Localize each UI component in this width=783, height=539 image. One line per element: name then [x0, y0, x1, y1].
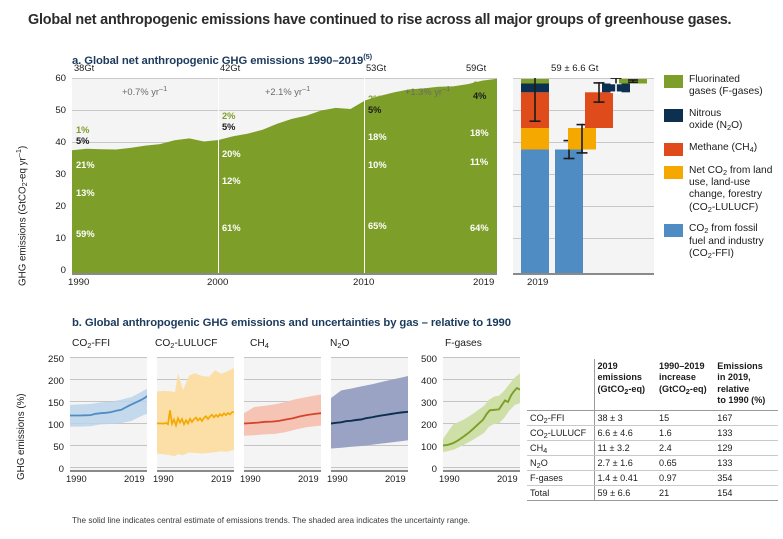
panel-a-share-2000-fgases: 2% [222, 111, 235, 121]
table-cell-relative: 129 [714, 441, 778, 456]
panel-a-xtick-2010: 2010 [353, 277, 374, 288]
panel-a-rate-2000-2010: +2.1% yr–1 [265, 84, 310, 97]
table-cell-increase: 21 [656, 486, 714, 501]
legend-swatch-co2-lulucf-icon [664, 166, 683, 179]
panel-b-title: b. Global anthropogenic GHG emissions an… [72, 317, 511, 329]
table-header-2019-emissions: 2019 emissions (GtCO2-eq) [594, 359, 656, 411]
panel-b-ch4-xtick-2019: 2019 [298, 474, 319, 484]
panel-a-ytick-40: 40 [42, 137, 66, 148]
panel-a-xtick-2000: 2000 [207, 277, 228, 288]
table-header-relative-l3: relative [717, 384, 749, 394]
panel-b-ytick-150: 150 [40, 398, 64, 409]
panel-a-share-1990-ch4: 21% [76, 160, 95, 170]
panel-b-n2o-xtick-1990: 1990 [327, 474, 348, 484]
panel-a-share-1990-fgases: 1% [76, 125, 89, 135]
legend-label-n2o: Nitrous oxide (N2O) [689, 108, 742, 133]
panel-a-share-1990-lulucf: 13% [76, 188, 95, 198]
panel-a-share-2010-lulucf: 10% [368, 160, 387, 170]
legend-item-n2o[interactable]: Nitrous oxide (N2O) [664, 108, 783, 133]
legend-item-co2-ffi[interactable]: CO2 from fossilfuel and industry(CO2-FFI… [664, 223, 783, 260]
table-row: F-gases 1.4 ± 0.41 0.97 354 [527, 471, 778, 486]
panel-a-share-2000-co2ffi: 61% [222, 223, 241, 233]
panel-b-ch4-chart [244, 357, 321, 470]
panel-b-n2o-chart [331, 357, 408, 470]
table-cell-relative: 154 [714, 486, 778, 501]
panel-b-co2-lulucf-xtick-1990: 1990 [153, 474, 174, 484]
table-header-relative-l1: Emissions [717, 361, 763, 371]
panel-b-mini-title-f-gases: F-gases [445, 338, 482, 349]
panel-a-side-xtick-2019: 2019 [527, 277, 548, 288]
table-cell-2019: 1.4 ± 0.41 [594, 471, 656, 486]
bar-total-co2ffi [521, 150, 549, 274]
panel-a-share-2010-co2ffi: 65% [368, 221, 387, 231]
panel-b-ytick-50: 50 [40, 442, 64, 453]
panel-b-n2o-x-axis [331, 470, 408, 472]
table-cell-relative: 133 [714, 456, 778, 471]
table-cell-2019: 59 ± 6.6 [594, 486, 656, 501]
table-cell-relative: 133 [714, 426, 778, 441]
area-f-gases [72, 79, 497, 273]
panel-b-fgas-ytick-300: 300 [413, 398, 437, 409]
legend-item-ch4[interactable]: Methane (CH4) [664, 142, 783, 156]
panel-a-ytick-10: 10 [42, 233, 66, 244]
panel-b-fgas-ytick-400: 400 [413, 376, 437, 387]
legend-label-f-gases: Fluorinated gases (F-gases) [689, 74, 763, 99]
panel-b-ytick-0: 0 [40, 464, 64, 475]
panel-a-share-2019-co2ffi: 64% [470, 223, 489, 233]
legend-label-ch4: Methane (CH4) [689, 142, 757, 156]
panel-a-ytick-20: 20 [42, 201, 66, 212]
legend-label-n2o-line1: Nitrous [689, 108, 721, 119]
panel-a-ytick-0: 0 [42, 265, 66, 276]
table-header-relative-l2: in 2019, [717, 372, 750, 382]
table-cell-increase: 0.97 [656, 471, 714, 486]
panel-a-rate-1990-2000: +0.7% yr–1 [122, 84, 167, 97]
bar-total-lulucf [521, 128, 549, 150]
panel-b-mini-title-co2-lulucf: CO2-LULUCF [155, 338, 217, 349]
panel-b-mini-title-co2-ffi: CO2-FFI [72, 338, 110, 349]
panel-b-ch4-x-axis [244, 470, 321, 472]
panel-b-footnote: The solid line indicates central estimat… [72, 516, 470, 525]
table-row: CO2-LULUCF 6.6 ± 4.6 1.6 133 [527, 426, 778, 441]
panel-a-xtick-2019: 2019 [473, 277, 494, 288]
legend-label-co2-ffi: CO2 from fossilfuel and industry(CO2-FFI… [689, 223, 764, 260]
panel-a-share-2010-ch4: 18% [368, 132, 387, 142]
panel-b-fgas-ytick-500: 500 [413, 354, 437, 365]
panel-b-f-gases-xtick-2019: 2019 [497, 474, 518, 484]
panel-b-mini-title-ch4: CH4 [250, 338, 269, 349]
panel-b-fgas-ytick-0: 0 [413, 464, 437, 475]
panel-a-share-2010-n2o: 5% [368, 105, 381, 115]
table-cell-increase: 15 [656, 411, 714, 426]
panel-b-co2-ffi-chart [70, 357, 147, 470]
panel-a-gt-1990: 38Gt [74, 63, 94, 73]
panel-b-f-gases-chart [443, 357, 520, 470]
table-row: Total 59 ± 6.6 21 154 [527, 486, 778, 501]
table-cell-gas: F-gases [527, 471, 594, 486]
legend-swatch-f-gases-icon [664, 75, 683, 88]
table-cell-2019: 2.7 ± 1.6 [594, 456, 656, 471]
panel-a-share-1990-co2ffi: 59% [76, 229, 95, 239]
table-cell-increase: 0.65 [656, 456, 714, 471]
band-co2-ffi [70, 389, 147, 427]
panel-a-share-2019-lulucf: 11% [470, 157, 488, 167]
panel-a-gt-2010: 53Gt [366, 63, 386, 73]
table-cell-gas: CH4 [527, 441, 594, 456]
band-co2-lulucf [157, 368, 234, 456]
panel-b-ytick-200: 200 [40, 376, 64, 387]
panel-b-co2-lulucf-chart [157, 357, 234, 470]
table-header-relative-l4: to 1990 (%) [717, 395, 765, 405]
table-cell-increase: 1.6 [656, 426, 714, 441]
panel-b-fgas-ytick-200: 200 [413, 420, 437, 431]
legend-swatch-n2o-icon [664, 109, 683, 122]
panel-a-x-axis [72, 273, 497, 275]
band-f-gases [443, 373, 520, 452]
table-cell-relative: 167 [714, 411, 778, 426]
legend-label-co2-lulucf: Net CO2 from landuse, land-usechange, fo… [689, 165, 772, 215]
panel-b-fgas-ytick-100: 100 [413, 442, 437, 453]
table-cell-2019: 11 ± 3.2 [594, 441, 656, 456]
panel-a-gt-2000: 42Gt [220, 63, 240, 73]
panel-a-rate-2010-2019: +1.3% yr–1 [405, 84, 450, 97]
panel-a-separator-2010 [364, 78, 365, 273]
panel-b-co2-lulucf-x-axis [157, 470, 234, 472]
legend-swatch-co2-ffi-icon [664, 224, 683, 237]
panel-a-ytick-60: 60 [42, 73, 66, 84]
table-cell-relative: 354 [714, 471, 778, 486]
table-header-relative: Emissions in 2019, relative to 1990 (%) [714, 359, 778, 411]
table-cell-gas: CO2-LULUCF [527, 426, 594, 441]
legend: Fluorinated gases (F-gases) Nitrous oxid… [664, 74, 783, 269]
table-header-increase-l2: increase [659, 372, 696, 382]
panel-a-waterfall-svg [513, 78, 654, 273]
legend-item-co2-lulucf[interactable]: Net CO2 from landuse, land-usechange, fo… [664, 165, 783, 215]
panel-a-share-2000-lulucf: 12% [222, 176, 241, 186]
panel-b-ytick-100: 100 [40, 420, 64, 431]
table-header-increase: 1990–2019 increase (GtCO2-eq) [656, 359, 714, 411]
table-cell-gas: CO2-FFI [527, 411, 594, 426]
panel-a-side-total-label: 59 ± 6.6 Gt [551, 63, 598, 74]
bar-co2ffi [555, 150, 583, 274]
panel-b-y-axis-label: GHG emissions (%) [16, 393, 27, 480]
table-cell-gas: Total [527, 486, 594, 501]
panel-a-gt-2019: 59Gt [466, 63, 486, 73]
panel-a-title-footnote-marker: (5) [363, 52, 372, 61]
panel-a-share-1990-n2o: 5% [76, 136, 89, 146]
legend-label-f-gases-line2: gases (F-gases) [689, 86, 763, 97]
legend-swatch-ch4-icon [664, 143, 683, 156]
table-header-row: 2019 emissions (GtCO2-eq) 1990–2019 incr… [527, 359, 778, 411]
panel-b-co2-ffi-x-axis [70, 470, 147, 472]
table-row: CH4 11 ± 3.2 2.4 129 [527, 441, 778, 456]
page-title: Global net anthropogenic emissions have … [28, 12, 768, 28]
panel-a-ytick-50: 50 [42, 105, 66, 116]
panel-a-share-2019-n2o: 4% [473, 91, 486, 101]
panel-b-f-gases-x-axis [443, 470, 520, 472]
panel-b-ch4-xtick-1990: 1990 [240, 474, 261, 484]
panel-b-co2-ffi-xtick-2019: 2019 [124, 474, 145, 484]
panel-b-co2-lulucf-xtick-2019: 2019 [211, 474, 232, 484]
summary-table: 2019 emissions (GtCO2-eq) 1990–2019 incr… [527, 359, 778, 501]
table-header-2019-emissions-l1: 2019 [598, 361, 618, 371]
legend-item-f-gases[interactable]: Fluorinated gases (F-gases) [664, 74, 783, 99]
table-row: CO2-FFI 38 ± 3 15 167 [527, 411, 778, 426]
panel-a-share-2019-ch4: 18% [470, 128, 489, 138]
panel-a-xtick-1990: 1990 [68, 277, 89, 288]
panel-a-y-axis-label: GHG emissions (GtCO2-eq yr–1) [14, 146, 28, 286]
table-cell-2019: 6.6 ± 4.6 [594, 426, 656, 441]
panel-b-n2o-xtick-2019: 2019 [385, 474, 406, 484]
table-cell-gas: N2O [527, 456, 594, 471]
panel-a-title-text: a. Global net anthropogenic GHG emission… [72, 55, 363, 67]
table-cell-2019: 38 ± 3 [594, 411, 656, 426]
table-row: N2O 2.7 ± 1.6 0.65 133 [527, 456, 778, 471]
table-header-increase-l1: 1990–2019 [659, 361, 705, 371]
panel-a-share-2019-fgases: 2% [473, 80, 486, 90]
table-cell-increase: 2.4 [656, 441, 714, 456]
table-header-gas [527, 359, 594, 411]
panel-b-ytick-250: 250 [40, 354, 64, 365]
panel-b-co2-ffi-xtick-1990: 1990 [66, 474, 87, 484]
panel-a-share-2010-fgases: 2% [368, 94, 381, 104]
panel-a-share-2000-n2o: 5% [222, 122, 235, 132]
legend-label-f-gases-line1: Fluorinated [689, 74, 740, 85]
panel-b-f-gases-xtick-1990: 1990 [439, 474, 460, 484]
panel-a-ytick-30: 30 [42, 169, 66, 180]
panel-a-share-2000-ch4: 20% [222, 149, 241, 159]
panel-a-stacked-area-svg [72, 78, 497, 273]
table-header-2019-emissions-l2: emissions [598, 372, 642, 382]
panel-b-mini-title-n2o: N2O [330, 338, 349, 349]
panel-a-side-x-axis [513, 273, 654, 275]
panel-a-separator-2000 [218, 78, 219, 273]
